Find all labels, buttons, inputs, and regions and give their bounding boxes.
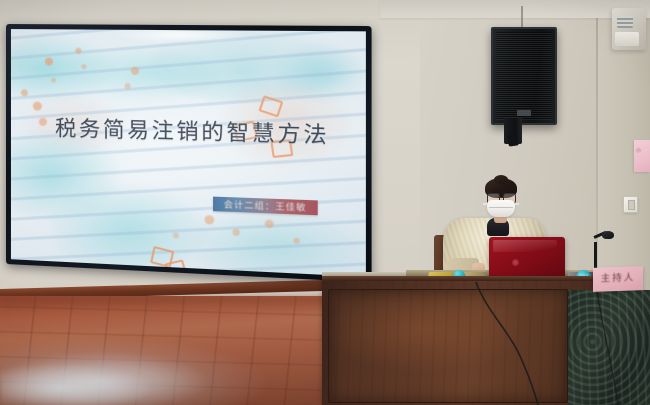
side-wall-panel (568, 290, 650, 405)
host-nameplate: 主持人 (593, 266, 643, 292)
vent-body (615, 32, 639, 46)
host-nameplate-label: 主持人 (593, 266, 643, 292)
speaker-logo (517, 110, 531, 116)
podium-front-panel (328, 289, 568, 403)
wall-vent-fixture (612, 8, 646, 50)
pink-poster-text: 小 (634, 140, 650, 154)
projection-screen[interactable]: 税务简易注销的智慧方法 会计二组：王佳敏 (6, 24, 372, 283)
vent-louvers (617, 16, 633, 28)
speaker-mount-arm (507, 133, 519, 146)
floor-wall-shadow (0, 296, 340, 312)
tiled-floor (0, 296, 340, 405)
floor-reflection-secondary (0, 354, 240, 405)
person-hair-bun (494, 175, 508, 184)
slide-surface: 税务简易注销的智慧方法 会计二组：王佳敏 (11, 29, 366, 277)
speaker-grille (496, 32, 552, 120)
face-mask (487, 200, 515, 217)
laptop-lid[interactable] (489, 237, 565, 281)
pa-speaker (491, 27, 557, 125)
screen-glare (112, 29, 249, 43)
light-switch-plate[interactable] (623, 196, 638, 213)
ceiling-soffit (380, 0, 650, 18)
light-switch-rocker[interactable] (628, 200, 635, 210)
pink-wall-poster: 小 (634, 140, 650, 172)
laptop-logo (512, 259, 519, 266)
photograph-conference-room: 税务简易注销的智慧方法 会计二组：王佳敏 小 (0, 0, 650, 405)
microphone-capsule (602, 231, 614, 239)
